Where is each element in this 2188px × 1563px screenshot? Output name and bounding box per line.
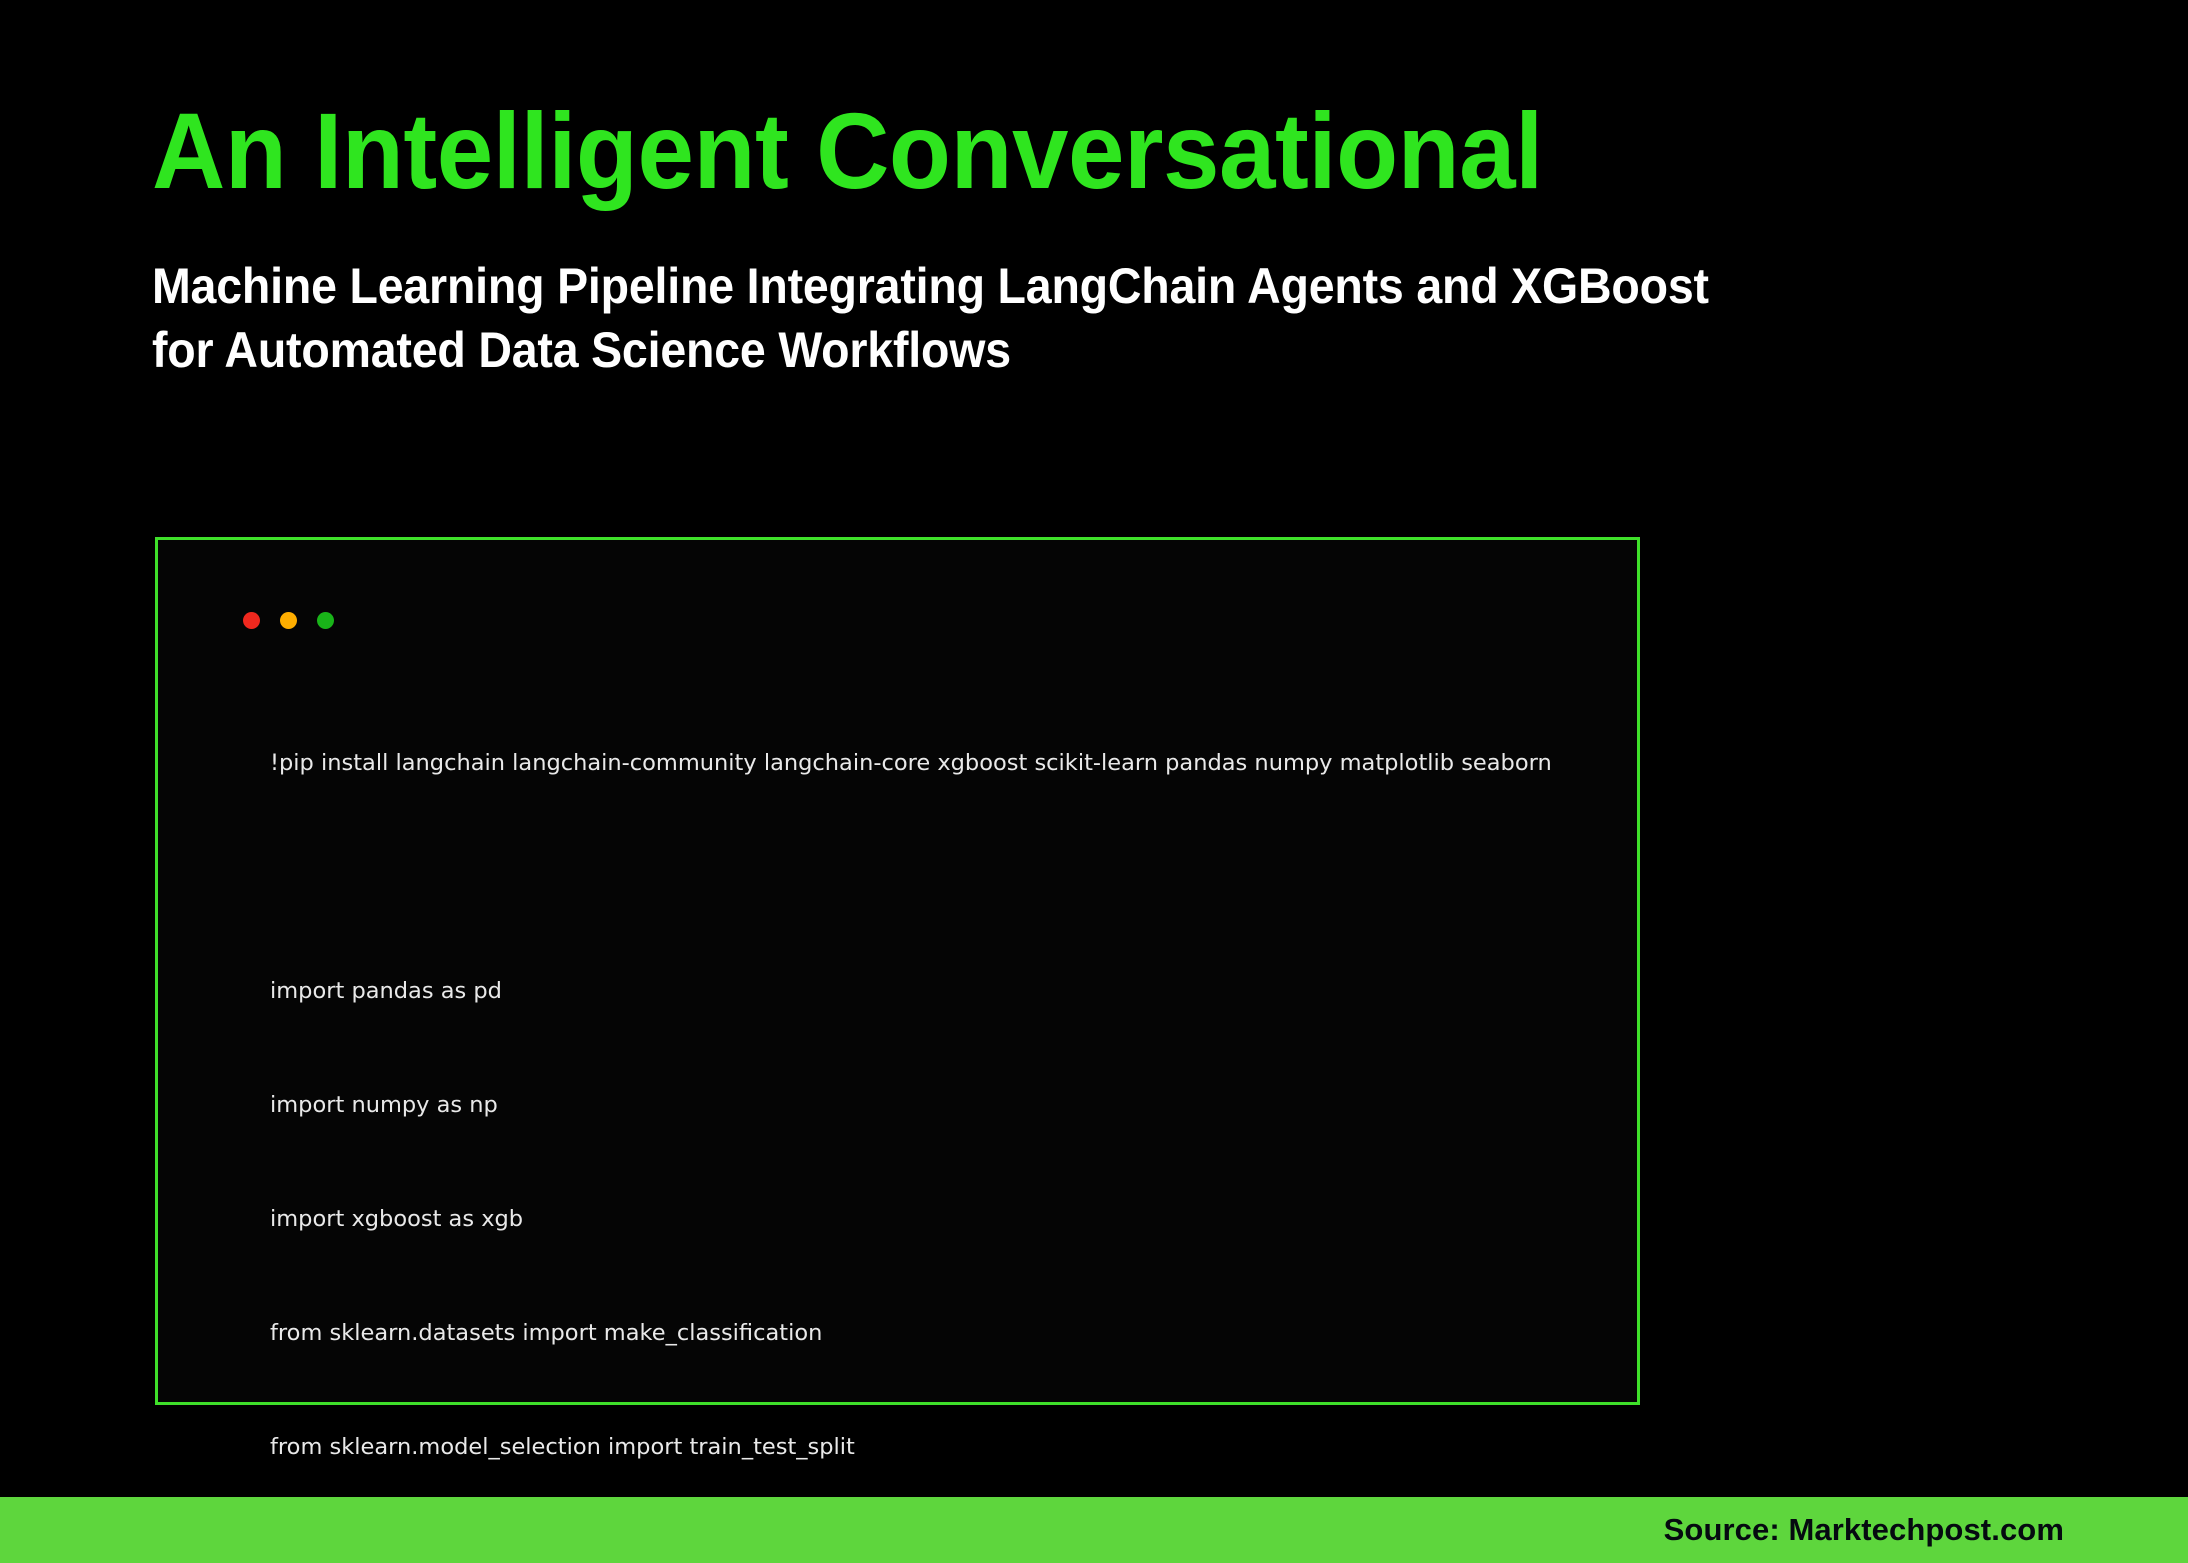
close-dot[interactable] [243, 612, 260, 629]
code-line: import pandas as pd [270, 972, 1607, 1010]
page-subtitle: Machine Learning Pipeline Integrating La… [152, 254, 1919, 382]
source-attribution: Source: Marktechpost.com [1664, 1512, 2064, 1548]
code-import-lines: import pandas as pd import numpy as np i… [270, 940, 1607, 1563]
slide-root: An Intelligent Conversational Machine Le… [0, 0, 2188, 1563]
code-block: !pip install langchain langchain-communi… [270, 668, 1607, 1563]
code-window-card: !pip install langchain langchain-communi… [155, 537, 1640, 1405]
code-line: from sklearn.model_selection import trai… [270, 1428, 1607, 1466]
maximize-dot[interactable] [317, 612, 334, 629]
code-line-pip-install: !pip install langchain langchain-communi… [270, 744, 1607, 782]
page-title: An Intelligent Conversational [152, 96, 1938, 206]
subtitle-line-2: for Automated Data Science Workflows [152, 318, 1919, 382]
window-controls [243, 612, 334, 629]
subtitle-line-1: Machine Learning Pipeline Integrating La… [152, 254, 1919, 318]
code-line: import numpy as np [270, 1086, 1607, 1124]
code-line: from sklearn.datasets import make_classi… [270, 1314, 1607, 1352]
headline-block: An Intelligent Conversational Machine Le… [152, 96, 2052, 382]
code-line: import xgboost as xgb [270, 1200, 1607, 1238]
minimize-dot[interactable] [280, 612, 297, 629]
footer-bar: Source: Marktechpost.com [0, 1497, 2188, 1563]
